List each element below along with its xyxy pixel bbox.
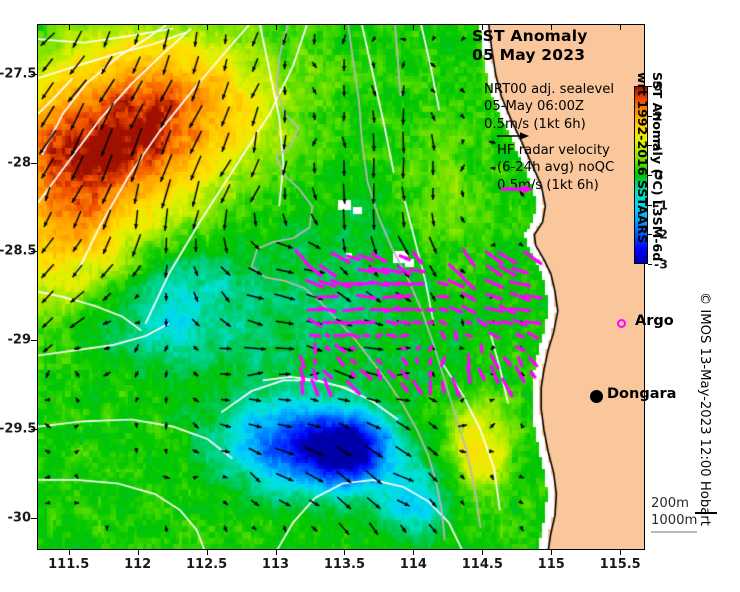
sealevel-reference-arrow-icon [496, 129, 530, 143]
sealevel-line1: NRT00 adj. sealevel [484, 81, 614, 98]
x-tick-top [207, 24, 208, 30]
y-tick [31, 340, 37, 341]
x-tick [207, 549, 208, 555]
x-tick [138, 549, 139, 555]
sealevel-line2: 05-May 06:00Z [484, 98, 614, 115]
x-tick-label: 113 [262, 557, 289, 572]
x-tick-label: 111.5 [48, 557, 89, 572]
x-tick [69, 549, 70, 555]
x-tick [620, 549, 621, 555]
bathymetry-1000m-line-sample [651, 531, 697, 533]
map-title-line1: SST Anomaly [472, 27, 588, 46]
x-tick-top [69, 24, 70, 30]
dongara-label: Dongara [607, 386, 676, 402]
y-tick-label: -28.5 [0, 244, 31, 259]
hfradar-line1: HF radar velocity [497, 142, 614, 159]
credit-text: © IMOS 13-May-2023 12:00 Hobart [692, 292, 712, 562]
x-tick [551, 549, 552, 555]
x-tick [276, 549, 277, 555]
x-tick-label: 114.5 [462, 557, 503, 572]
x-tick-top [138, 24, 139, 30]
map-title-line2: 05 May 2023 [472, 46, 588, 65]
colorbar-title-line1: SST Anomaly (°C) L3SM-6d [649, 72, 664, 282]
dongara-marker-icon [590, 390, 603, 403]
x-tick-label: 114 [400, 557, 427, 572]
x-tick-label: 112 [124, 557, 151, 572]
y-tick-label: -27.5 [0, 66, 31, 81]
y-tick-label: -29 [0, 333, 31, 348]
x-tick-label: 112.5 [186, 557, 227, 572]
sst-anomaly-map-figure: 111.5112112.5113113.5114114.5115115.5 -2… [0, 0, 740, 592]
y-tick [31, 163, 37, 164]
map-title: SST Anomaly 05 May 2023 [472, 27, 588, 66]
sealevel-annotation: NRT00 adj. sealevel 05-May 06:00Z 0.5m/s… [484, 81, 614, 133]
y-tick [31, 518, 37, 519]
x-tick-top [276, 24, 277, 30]
y-tick-label: -29.5 [0, 422, 31, 437]
hfradar-reference-arrow-icon [500, 182, 534, 196]
colorbar-title: SST Anomaly (°C) L3SM-6d wrt 1992-2016 S… [640, 72, 664, 282]
x-tick-top [620, 24, 621, 30]
argo-marker-icon [617, 319, 626, 328]
bathymetry-1000m-label: 1000m [651, 513, 697, 530]
x-tick-label: 115 [538, 557, 565, 572]
x-tick-top [413, 24, 414, 30]
x-tick-label: 115.5 [600, 557, 641, 572]
bathymetry-200m-label: 200m [651, 496, 697, 513]
x-tick [344, 549, 345, 555]
x-tick-label: 113.5 [324, 557, 365, 572]
y-tick-label: -28 [0, 155, 31, 170]
colorbar-title-line2: wrt 1992-2016 SSTAARS [634, 72, 649, 282]
x-tick [413, 549, 414, 555]
x-tick [482, 549, 483, 555]
y-tick-label: -30 [0, 511, 31, 526]
hfradar-line2: (6-24h avg) noQC [497, 159, 614, 176]
x-tick-top [344, 24, 345, 30]
argo-legend-label: Argo [635, 313, 674, 329]
bathymetry-legend: 200m 1000m [651, 496, 697, 530]
